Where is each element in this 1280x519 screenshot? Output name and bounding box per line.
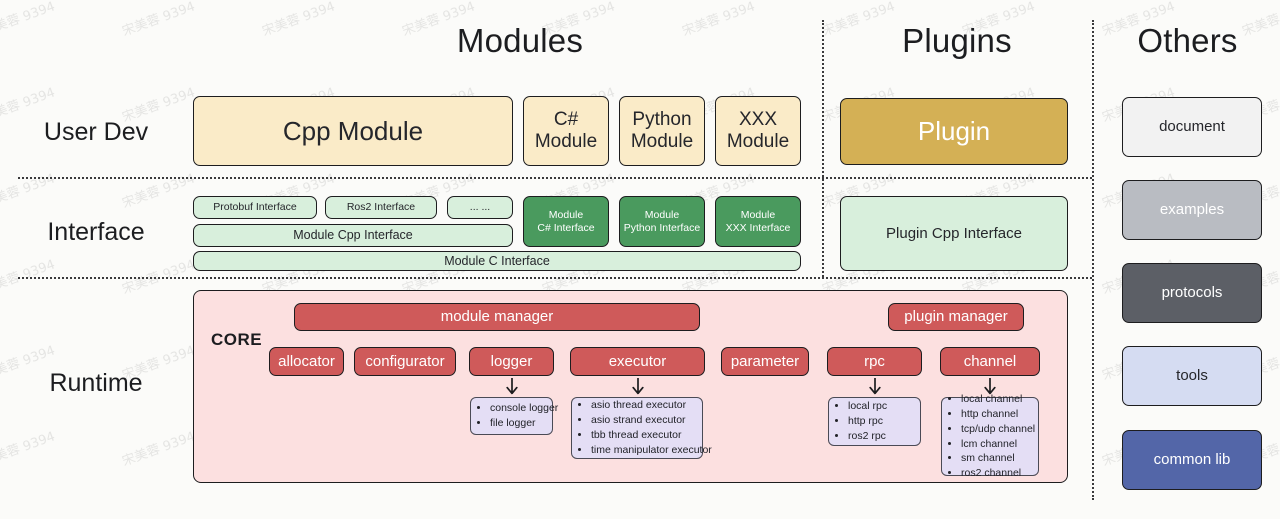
interface-module-csharp[interactable]: Module C# Interface — [523, 196, 609, 247]
runtime-channel-children: local channelhttp channeltcp/udp channel… — [941, 397, 1039, 476]
list-item: http channel — [961, 407, 1035, 422]
arrow-down-rpc-icon — [868, 378, 882, 398]
list-item: local rpc — [848, 399, 887, 414]
list-item: time manipulator executor — [591, 443, 712, 458]
watermark-text: 宋美蓉 9394 — [259, 0, 337, 39]
runtime-executor-children: asio thread executorasio strand executor… — [571, 397, 703, 459]
runtime-parameter[interactable]: parameter — [721, 347, 809, 376]
runtime-rpc[interactable]: rpc — [827, 347, 922, 376]
interface-plugin-cpp[interactable]: Plugin Cpp Interface — [840, 196, 1068, 271]
user-dev-python-module[interactable]: Python Module — [619, 96, 705, 166]
user-dev-plugin[interactable]: Plugin — [840, 98, 1068, 165]
list-item: ros2 channel — [961, 466, 1035, 481]
runtime-configurator[interactable]: configurator — [354, 347, 456, 376]
list-item: lcm channel — [961, 437, 1035, 452]
runtime-rpc-children: local rpchttp rpcros2 rpc — [828, 397, 921, 446]
list-item: asio thread executor — [591, 398, 712, 413]
executor-children-list: asio thread executorasio strand executor… — [578, 398, 712, 458]
channel-children-list: local channelhttp channeltcp/udp channel… — [948, 392, 1035, 481]
runtime-channel[interactable]: channel — [940, 347, 1040, 376]
others-tools[interactable]: tools — [1122, 346, 1262, 406]
runtime-logger[interactable]: logger — [469, 347, 554, 376]
column-title-plugins: Plugins — [824, 22, 1090, 60]
logger-children-list: console loggerfile logger — [477, 401, 558, 431]
others-protocols[interactable]: protocols — [1122, 263, 1262, 323]
interface-protobuf[interactable]: Protobuf Interface — [193, 196, 317, 219]
runtime-executor[interactable]: executor — [570, 347, 705, 376]
others-examples[interactable]: examples — [1122, 180, 1262, 240]
interface-module-python[interactable]: Module Python Interface — [619, 196, 705, 247]
list-item: local channel — [961, 392, 1035, 407]
row-label-interface: Interface — [6, 218, 186, 247]
runtime-plugin-manager[interactable]: plugin manager — [888, 303, 1024, 331]
watermark-text: 宋美蓉 9394 — [119, 168, 197, 212]
watermark-text: 宋美蓉 9394 — [0, 0, 57, 39]
interface-module-cpp[interactable]: Module Cpp Interface — [193, 224, 513, 247]
list-item: console logger — [490, 401, 558, 416]
runtime-allocator[interactable]: allocator — [269, 347, 344, 376]
watermark-text: 宋美蓉 9394 — [119, 0, 197, 39]
list-item: tcp/udp channel — [961, 422, 1035, 437]
arrow-down-executor-icon — [631, 378, 645, 398]
list-item: asio strand executor — [591, 413, 712, 428]
separator-modules-plugins — [822, 20, 824, 277]
column-title-modules: Modules — [340, 22, 700, 60]
others-document[interactable]: document — [1122, 97, 1262, 157]
runtime-module-manager[interactable]: module manager — [294, 303, 700, 331]
row-label-user-dev: User Dev — [6, 118, 186, 147]
user-dev-cpp-module[interactable]: Cpp Module — [193, 96, 513, 166]
interface-module-c[interactable]: Module C Interface — [193, 251, 801, 271]
list-item: file logger — [490, 416, 558, 431]
others-common-lib[interactable]: common lib — [1122, 430, 1262, 490]
watermark-text: 宋美蓉 9394 — [119, 426, 197, 470]
core-label: CORE — [211, 330, 262, 350]
watermark-text: 宋美蓉 9394 — [119, 254, 197, 298]
arrow-down-logger-icon — [505, 378, 519, 398]
interface-ros2[interactable]: Ros2 Interface — [325, 196, 437, 219]
watermark-text: 宋美蓉 9394 — [0, 426, 57, 470]
row-label-runtime: Runtime — [6, 369, 186, 398]
list-item: ros2 rpc — [848, 429, 887, 444]
separator-interface-runtime — [18, 277, 1092, 279]
user-dev-xxx-module[interactable]: XXX Module — [715, 96, 801, 166]
user-dev-csharp-module[interactable]: C# Module — [523, 96, 609, 166]
column-title-others: Others — [1095, 22, 1280, 60]
list-item: sm channel — [961, 451, 1035, 466]
list-item: http rpc — [848, 414, 887, 429]
interface-module-xxx[interactable]: Module XXX Interface — [715, 196, 801, 247]
list-item: tbb thread executor — [591, 428, 712, 443]
interface-more[interactable]: ... ... — [447, 196, 513, 219]
watermark-text: 宋美蓉 9394 — [0, 168, 57, 212]
separator-user-dev-interface — [18, 177, 1092, 179]
watermark-text: 宋美蓉 9394 — [0, 254, 57, 298]
rpc-children-list: local rpchttp rpcros2 rpc — [835, 399, 887, 444]
separator-plugins-others — [1092, 20, 1094, 500]
runtime-logger-children: console loggerfile logger — [470, 397, 553, 435]
